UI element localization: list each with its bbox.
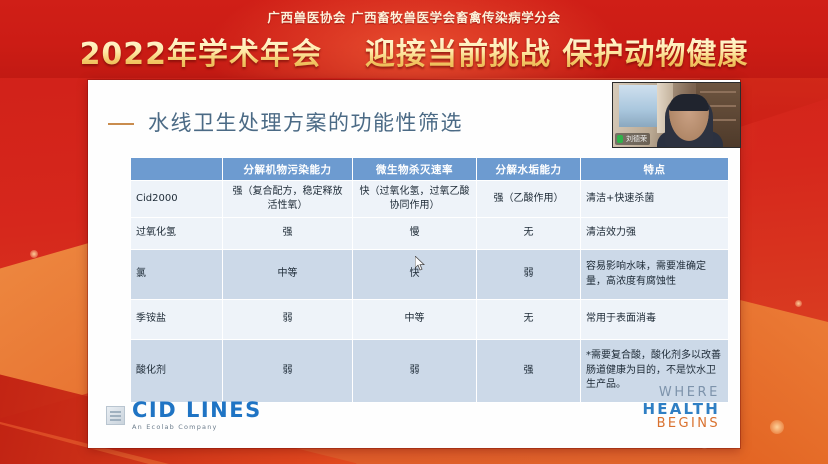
- banner-title-right: 迎接当前挑战 保护动物健康: [365, 37, 748, 72]
- cell-kill-rate: 快（过氧化氢，过氧乙酸协同作用）: [353, 181, 477, 218]
- video-participant-tile[interactable]: 刘德荣: [612, 82, 741, 148]
- slide-title-row: 水线卫生处理方案的功能性筛选: [108, 107, 463, 137]
- banner-title-left: 2022年学术年会: [80, 37, 323, 72]
- cell-scale: 无: [477, 300, 581, 340]
- cell-scale: 强（乙酸作用）: [477, 181, 581, 218]
- table-row: 氯 中等 快 弱 容易影响水味，需要准确定量，高浓度有腐蚀性: [131, 250, 729, 300]
- cid-lines-logo: CID LINES An Ecolab Company: [106, 400, 262, 431]
- microphone-icon: [617, 135, 623, 143]
- cell-name: 过氧化氢: [131, 218, 223, 250]
- column-header-blank: [131, 158, 223, 181]
- column-header-organic: 分解机物污染能力: [223, 158, 353, 181]
- background-spark: [795, 300, 802, 307]
- cell-kill-rate: 弱: [353, 340, 477, 403]
- participant-name: 刘德荣: [626, 134, 647, 144]
- cid-lines-mark-icon: [106, 406, 125, 425]
- tagline-line-health: HEALTH: [643, 401, 720, 418]
- cell-note: 清洁+快速杀菌: [581, 181, 729, 218]
- where-health-begins-logo: WHERE HEALTH BEGINS: [643, 386, 720, 432]
- column-header-note: 特点: [581, 158, 729, 181]
- banner-subtitle: 广西兽医协会 广西畜牧兽医学会畜禽传染病学分会: [0, 7, 828, 26]
- background-spark: [770, 420, 784, 434]
- tagline-line-where: WHERE: [643, 386, 720, 401]
- column-header-scale: 分解水垢能力: [477, 158, 581, 181]
- cid-lines-tagline: An Ecolab Company: [132, 424, 262, 431]
- cell-name: 酸化剂: [131, 340, 223, 403]
- cell-organic: 弱: [223, 340, 353, 403]
- cell-kill-rate: 慢: [353, 218, 477, 250]
- cell-note: 清洁效力强: [581, 218, 729, 250]
- column-header-kill-rate: 微生物杀灭速率: [353, 158, 477, 181]
- table-row: 季铵盐 弱 中等 无 常用于表面消毒: [131, 300, 729, 340]
- participant-name-badge: 刘德荣: [615, 133, 650, 145]
- screen: 广西兽医协会 广西畜牧兽医学会畜禽传染病学分会 2022年学术年会 迎接当前挑战…: [0, 0, 828, 464]
- table-row: Cid2000 强（复合配方，稳定释放活性氧） 快（过氧化氢，过氧乙酸协同作用）…: [131, 181, 729, 218]
- cell-note: 容易影响水味，需要准确定量，高浓度有腐蚀性: [581, 250, 729, 300]
- video-person-hair: [669, 94, 709, 111]
- background-spark: [30, 250, 38, 258]
- cell-name: 季铵盐: [131, 300, 223, 340]
- cell-scale: 强: [477, 340, 581, 403]
- tagline-line-begins: BEGINS: [643, 417, 720, 432]
- page-title: 水线卫生处理方案的功能性筛选: [148, 107, 463, 137]
- cell-kill-rate: 中等: [353, 300, 477, 340]
- title-dash-icon: [108, 123, 134, 125]
- cell-organic: 弱: [223, 300, 353, 340]
- cell-organic: 中等: [223, 250, 353, 300]
- cell-scale: 无: [477, 218, 581, 250]
- cell-organic: 强: [223, 218, 353, 250]
- table-row: 过氧化氢 强 慢 无 清洁效力强: [131, 218, 729, 250]
- cell-name: 氯: [131, 250, 223, 300]
- background-ribbon-bottom-right: [740, 300, 828, 464]
- table-header-row: 分解机物污染能力 微生物杀灭速率 分解水垢能力 特点: [131, 158, 729, 181]
- cell-name: Cid2000: [131, 181, 223, 218]
- comparison-table: 分解机物污染能力 微生物杀灭速率 分解水垢能力 特点 Cid2000 强（复合配…: [130, 157, 729, 403]
- cid-lines-name: CID LINES: [132, 400, 262, 421]
- banner-title: 2022年学术年会 迎接当前挑战 保护动物健康: [0, 29, 828, 73]
- mouse-cursor: [415, 256, 426, 271]
- conference-banner: 广西兽医协会 广西畜牧兽医学会畜禽传染病学分会 2022年学术年会 迎接当前挑战…: [0, 0, 828, 78]
- cell-note: 常用于表面消毒: [581, 300, 729, 340]
- video-window-decor: [619, 85, 657, 127]
- cid-lines-logo-text: CID LINES An Ecolab Company: [132, 400, 262, 431]
- cell-organic: 强（复合配方，稳定释放活性氧）: [223, 181, 353, 218]
- cell-scale: 弱: [477, 250, 581, 300]
- table-row: 酸化剂 弱 弱 强 *需要复合酸，酸化剂多以改善肠道健康为目的，不是饮水卫生产品…: [131, 340, 729, 403]
